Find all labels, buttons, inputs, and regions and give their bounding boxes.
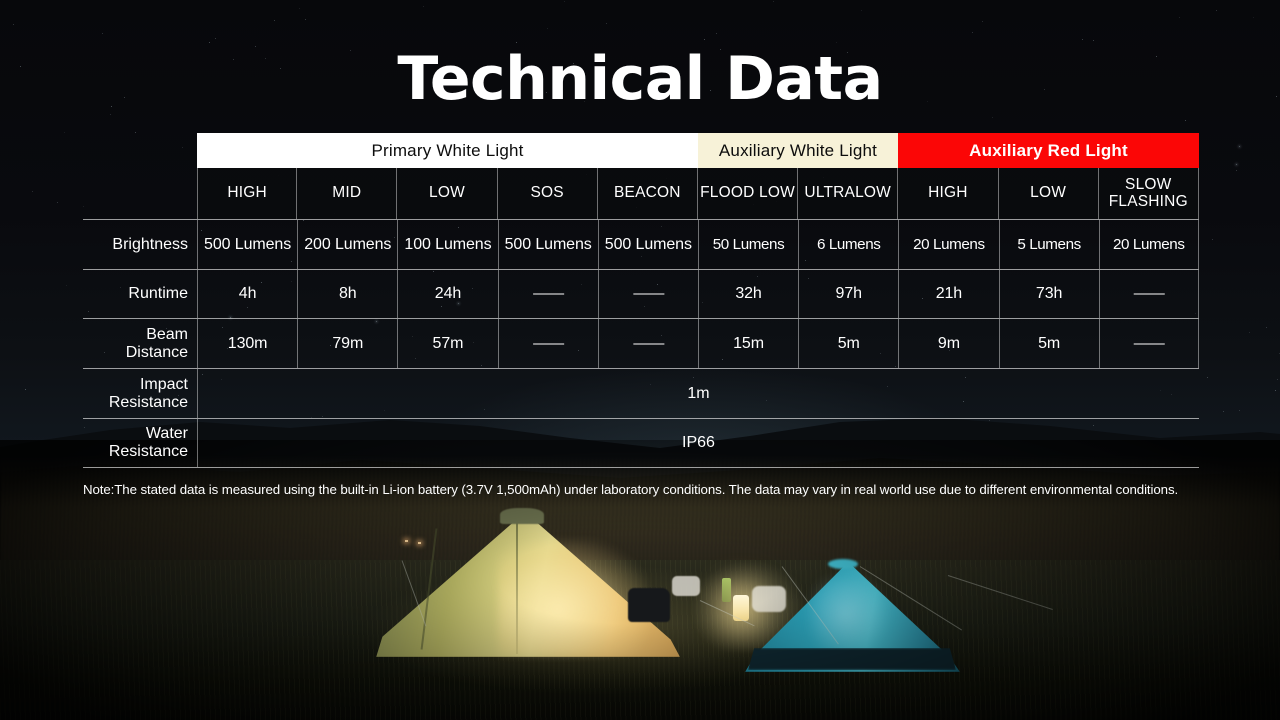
cell-runtime-high: 4h bbox=[197, 270, 297, 318]
cell-brightness-ultralow: 6 Lumens bbox=[798, 220, 898, 269]
cell-runtime-ultralow: 97h bbox=[798, 270, 898, 318]
mode-header-mid: MID bbox=[297, 168, 397, 219]
page-title: Technical Data bbox=[0, 44, 1280, 114]
row-label-water-resistance: Water Resistance bbox=[83, 419, 197, 467]
cell-runtime-low: 24h bbox=[397, 270, 497, 318]
mode-header-beacon: BEACON bbox=[598, 168, 698, 219]
group-header-auxiliary-red-light: Auxiliary Red Light bbox=[898, 133, 1199, 168]
cell-brightness-flood-low: 50 Lumens bbox=[698, 220, 798, 269]
cell-beam-distance-slow-flashing: —— bbox=[1099, 319, 1199, 368]
cell-beam-distance-sos: —— bbox=[498, 319, 598, 368]
group-header-primary-white-light: Primary White Light bbox=[197, 133, 698, 168]
table-row-impact-resistance: Impact Resistance 1m bbox=[83, 368, 1199, 418]
cell-brightness-low: 100 Lumens bbox=[397, 220, 497, 269]
row-label-beam-distance: Beam Distance bbox=[83, 319, 197, 368]
cell-brightness-high: 500 Lumens bbox=[197, 220, 297, 269]
cell-runtime-mid: 8h bbox=[297, 270, 397, 318]
cell-runtime-slow-flashing: —— bbox=[1099, 270, 1199, 318]
mode-header-sos: SOS bbox=[498, 168, 598, 219]
mode-header-aux-low: LOW bbox=[999, 168, 1099, 219]
cell-brightness-aux-high: 20 Lumens bbox=[898, 220, 998, 269]
cell-runtime-aux-low: 73h bbox=[999, 270, 1099, 318]
cell-beam-distance-aux-low: 5m bbox=[999, 319, 1099, 368]
cell-beam-distance-flood-low: 15m bbox=[698, 319, 798, 368]
cell-brightness-slow-flashing: 20 Lumens bbox=[1099, 220, 1199, 269]
cell-water-resistance-value: IP66 bbox=[197, 419, 1199, 467]
cell-beam-distance-ultralow: 5m bbox=[798, 319, 898, 368]
cell-beam-distance-low: 57m bbox=[397, 319, 497, 368]
cell-brightness-sos: 500 Lumens bbox=[498, 220, 598, 269]
mode-header-ultralow: ULTRALOW bbox=[798, 168, 898, 219]
row-label-runtime: Runtime bbox=[83, 270, 197, 318]
group-header-auxiliary-white-light: Auxiliary White Light bbox=[698, 133, 898, 168]
row-label-impact-resistance: Impact Resistance bbox=[83, 369, 197, 418]
cell-brightness-beacon: 500 Lumens bbox=[598, 220, 698, 269]
cell-impact-resistance-value: 1m bbox=[197, 369, 1199, 418]
mode-header-flood-low: FLOOD LOW bbox=[698, 168, 798, 219]
mode-header-aux-high: HIGH bbox=[898, 168, 998, 219]
technical-data-table: Primary White Light Auxiliary White Ligh… bbox=[83, 133, 1199, 468]
cell-runtime-aux-high: 21h bbox=[898, 270, 998, 318]
cell-beam-distance-mid: 79m bbox=[297, 319, 397, 368]
cell-beam-distance-high: 130m bbox=[197, 319, 297, 368]
mode-header-high: HIGH bbox=[197, 168, 297, 219]
cell-beam-distance-aux-high: 9m bbox=[898, 319, 998, 368]
table-group-header-row: Primary White Light Auxiliary White Ligh… bbox=[197, 133, 1199, 168]
table-row-runtime: Runtime 4h 8h 24h —— —— 32h 97h 21h 73h … bbox=[83, 269, 1199, 318]
mode-header-low: LOW bbox=[397, 168, 497, 219]
mode-header-slow-flashing: SLOW FLASHING bbox=[1099, 168, 1199, 219]
row-label-brightness: Brightness bbox=[83, 220, 197, 269]
cell-beam-distance-beacon: —— bbox=[598, 319, 698, 368]
table-row-beam-distance: Beam Distance 130m 79m 57m —— —— 15m 5m … bbox=[83, 318, 1199, 368]
table-row-water-resistance: Water Resistance IP66 bbox=[83, 418, 1199, 468]
table-row-brightness: Brightness 500 Lumens 200 Lumens 100 Lum… bbox=[83, 219, 1199, 269]
cell-brightness-aux-low: 5 Lumens bbox=[999, 220, 1099, 269]
cell-runtime-beacon: —— bbox=[598, 270, 698, 318]
footnote: Note:The stated data is measured using t… bbox=[83, 481, 1199, 498]
cell-runtime-sos: —— bbox=[498, 270, 598, 318]
cell-brightness-mid: 200 Lumens bbox=[297, 220, 397, 269]
cell-runtime-flood-low: 32h bbox=[698, 270, 798, 318]
table-mode-header-row: HIGH MID LOW SOS BEACON FLOOD LOW ULTRAL… bbox=[197, 168, 1199, 219]
